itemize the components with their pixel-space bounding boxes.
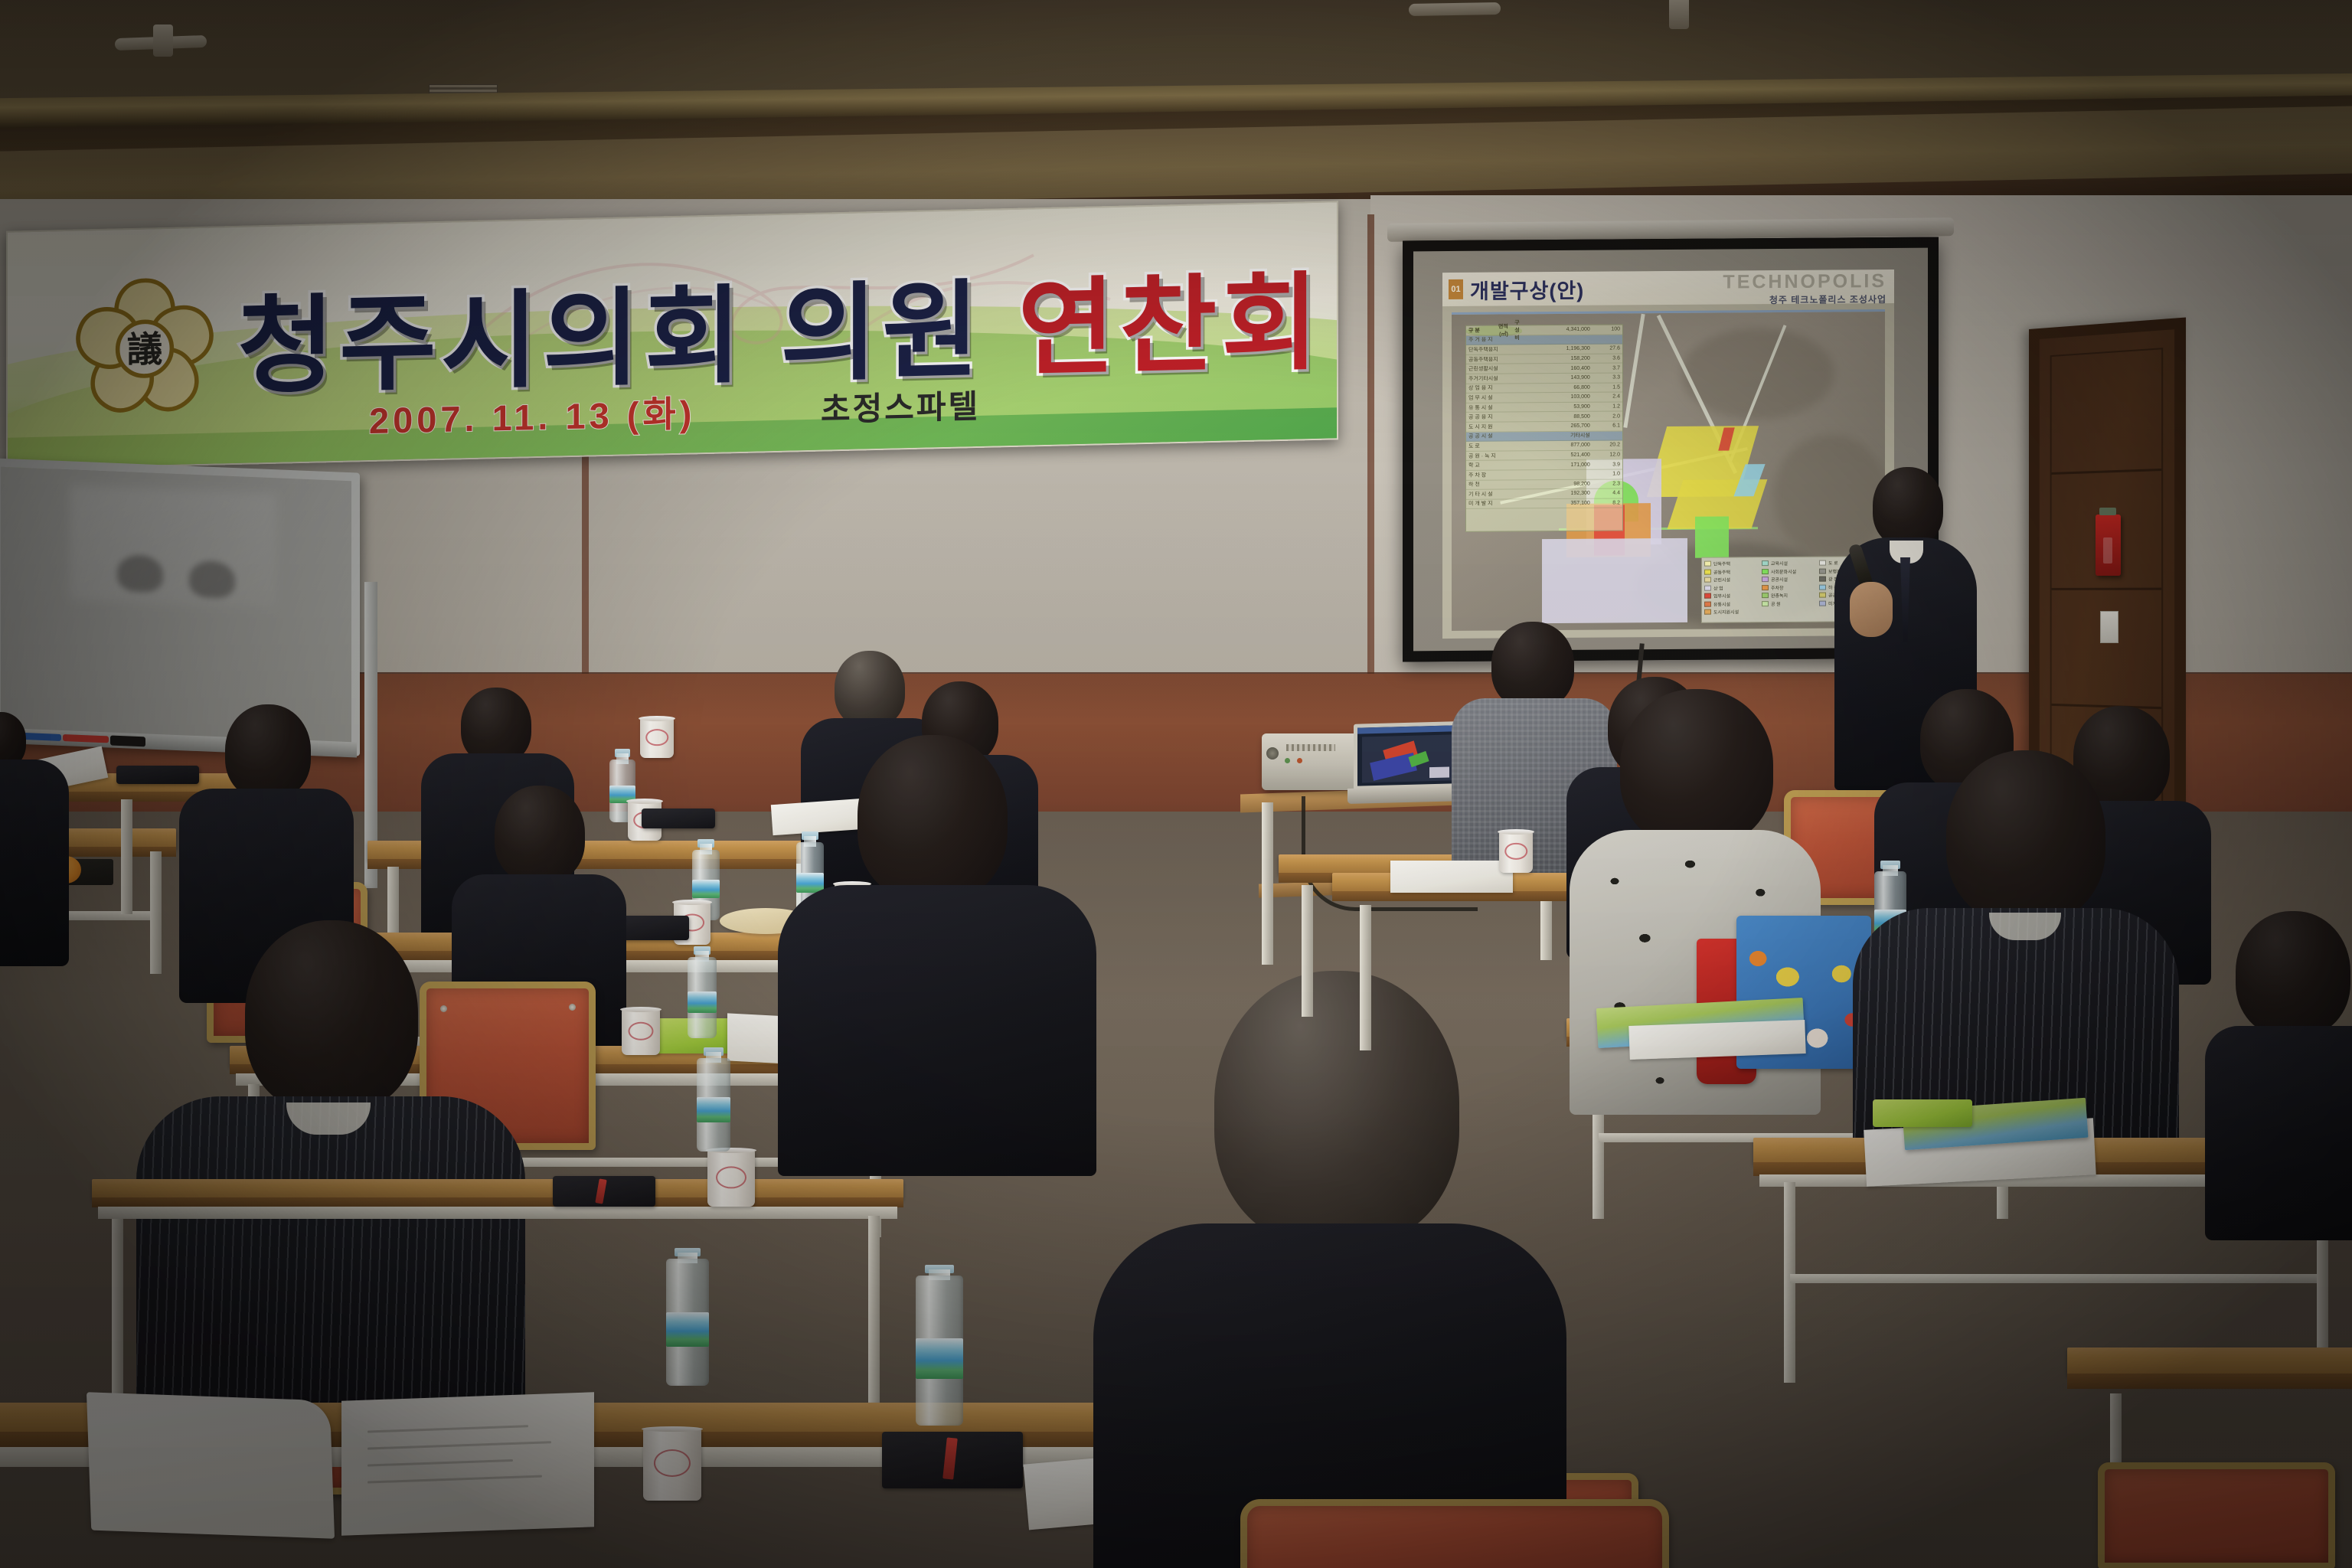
legend-item: 업무시설 [1704,592,1759,599]
table-header-label: 구 분 [1468,326,1490,334]
cheongju-council-emblem: 議 [73,273,216,426]
legend-column-1: 단독주택 공동주택 근린시설 상 업 업무시설 유통시설 도시지원시설 [1704,560,1759,620]
chair-back [2098,1462,2335,1568]
cup-rim [1498,829,1534,835]
sprinkler-body-left [153,24,173,57]
water-bottle[interactable] [666,1248,709,1386]
bottle-label [666,1312,709,1347]
table-header-pct: 구성비 [1511,318,1520,341]
legend-item: 교육시설 [1762,560,1817,567]
presentation-laptop-screen[interactable] [1354,721,1457,790]
light-switch-plate[interactable] [2100,611,2118,643]
legend-item: 상 업 [1704,584,1759,592]
legend-swatch [1704,585,1711,590]
laptop-titlebar [1357,725,1453,733]
attendee-head [1620,689,1773,847]
legend-item: 단독주택 [1704,560,1759,567]
green-snack-pack[interactable] [1873,1099,1972,1127]
chair-foreground[interactable] [1240,1499,1669,1568]
legend-swatch [1819,568,1826,573]
chair-corner-right[interactable] [2098,1462,2335,1568]
banner-title: 청주시의회 의원 연찬회 [237,237,1323,414]
legend-swatch [1704,601,1711,606]
cup-rim [626,799,663,804]
presentation-slide: 01 개발구상(안) TECHNOPOLIS 청주 테크노폴리스 조성사업 [1442,269,1894,639]
data-projector[interactable] [1262,733,1360,790]
legend-swatch [1704,593,1711,599]
attendee-torso [2205,1026,2352,1240]
desk-top [92,1179,903,1199]
legend-item: 공공시설 [1762,576,1817,583]
bottle-label [692,880,720,899]
paper-cup[interactable] [707,1150,755,1207]
black-eyeglass-case[interactable] [882,1432,1023,1488]
booklet-text-line [367,1441,551,1449]
wall-seam-left [582,453,589,683]
legend-swatch [1762,569,1769,574]
chair-back [1240,1499,1669,1568]
attendee-1 [0,712,84,965]
wall-seam-center [1367,214,1374,689]
sprinkler-head-right [1409,2,1501,16]
loose-papers [1628,1020,1805,1060]
laptop-zone-gray [1429,766,1449,778]
open-booklet [89,1396,594,1534]
banner-title-accent: 연찬회 [1018,264,1323,389]
water-bottle[interactable] [697,1047,730,1151]
slide-data-table: 구 분 면적(㎡) 구성비 합 계4,341,000100 주 거 용 지 단독… [1465,324,1623,531]
attendee-head [461,688,531,764]
legend-swatch [1819,560,1826,566]
presenter-hand [1850,582,1893,637]
projector-lamp-led [1297,758,1302,763]
map-zone-green-2 [1695,516,1729,557]
cup-rim [642,1426,703,1432]
cup-rim [620,1007,661,1012]
attendee-head [857,735,1008,902]
legend-swatch [1704,561,1711,567]
legend-swatch [1819,577,1826,582]
table-header-row: 구 분 면적(㎡) 구성비 [1466,325,1522,335]
attendee-7 [778,735,1099,1164]
sprinkler-body-right [1669,0,1689,29]
legend-swatch [1762,585,1769,590]
booklet-left-page [87,1392,335,1538]
water-bottle[interactable] [688,946,717,1038]
attendee-head [2236,911,2350,1037]
legend-swatch [1819,593,1826,598]
slide-brand-ko: 청주 테크노폴리스 조성사업 [1723,292,1886,306]
whiteboard-eraser[interactable] [110,736,145,747]
booklet-text-line [367,1425,528,1432]
desk-leg [112,1219,123,1410]
table-header-area: 면적(㎡) [1493,322,1508,338]
slide-brand: TECHNOPOLIS 청주 테크노폴리스 조성사업 [1723,270,1886,306]
cup-rim [672,900,712,905]
event-banner: 議 청주시의회 의원 연찬회 2007. 11. 13 (화) 초정스파텔 [6,201,1338,469]
fire-alarm-box[interactable] [2096,514,2121,576]
attendee-head [495,786,585,884]
legend-swatch [1704,577,1711,583]
projector-lens [1266,747,1279,759]
legend-item: 공동주택 [1704,568,1759,576]
legend-item: 유통시설 [1704,600,1759,608]
paper-cup[interactable] [643,1429,701,1501]
water-bottle[interactable] [916,1265,963,1426]
legend-item: 근린시설 [1704,576,1759,583]
bottle-label [916,1338,963,1379]
bottle-body [916,1276,963,1426]
legend-swatch [1704,569,1711,574]
legend-column-2: 교육시설 사회문화시설 공공시설 주차장 완충녹지 공 원 [1762,560,1817,620]
bottle-label [697,1097,730,1122]
bottle-body [688,957,717,1038]
desk-edge [2067,1374,2352,1389]
bottle-body [666,1259,709,1386]
desk-leg [1360,905,1371,1050]
door-rail-mid [2052,588,2161,590]
bottle-body [697,1058,730,1151]
table-row: 미 개 발 지357,1008.2 [1466,498,1622,509]
legend-swatch [1819,584,1826,590]
whiteboard-reflection [70,485,276,608]
door-rail-top [2052,469,2161,475]
legend-swatch [1704,609,1711,615]
laptop-slide-map [1362,734,1454,782]
attendee-16 [2205,911,2352,1233]
presenter-head [1873,467,1943,547]
banner-date: 2007. 11. 13 (화) [369,384,695,444]
legend-swatch [1762,560,1769,566]
legend-swatch [1762,593,1769,598]
equipment-table-leg-left [1262,802,1273,965]
paper-cup[interactable] [640,718,674,758]
attendee-torso [778,885,1096,1176]
slide-map-area: 구 분 면적(㎡) 구성비 합 계4,341,000100 주 거 용 지 단독… [1452,309,1885,631]
red-pen[interactable] [595,1178,606,1204]
attendee-9 [1093,971,1568,1568]
legend-swatch [1819,600,1826,606]
legend-swatch [1762,577,1769,582]
attendee-torso [0,759,69,966]
booklet-right-page [341,1392,594,1536]
slide-brand-en: TECHNOPOLIS [1723,270,1886,293]
desk-apron [98,1207,897,1219]
projector-power-led [1285,758,1290,763]
projector-vent [1286,744,1335,751]
legend-item: 사회문화시설 [1762,567,1817,575]
attendee-head [225,704,311,799]
emblem-character: 議 [127,330,162,371]
legend-item: 완충녹지 [1762,592,1817,599]
booklet-text-line [367,1475,542,1484]
cup-rim [639,716,675,721]
red-pen[interactable] [942,1437,958,1479]
black-eyeglass-case[interactable] [553,1176,655,1207]
conference-room-photo: 議 청주시의회 의원 연찬회 2007. 11. 13 (화) 초정스파텔 01… [0,0,2352,1568]
attendee-head [245,920,418,1113]
map-zone-lilac-2 [1542,538,1687,623]
desk-top [2067,1347,2352,1375]
attendee-head [1946,750,2105,923]
legend-swatch [1762,601,1769,606]
slide-bullet-marker: 01 [1449,279,1463,299]
black-eyeglass-case[interactable] [642,808,715,828]
desk-leg [1302,885,1313,1017]
paper-cup[interactable] [1499,831,1533,873]
paper-cup[interactable] [622,1009,660,1055]
attendee-head [1491,622,1574,709]
slide-title: 개발구상(안) [1470,273,1584,304]
chair-stud [569,1004,576,1011]
banner-venue: 초정스파텔 [821,381,980,431]
legend-item: 주차장 [1762,583,1817,591]
booklet-text-line [367,1459,513,1467]
desk-leg [121,799,132,914]
bottle-label [688,991,717,1014]
loose-papers [1390,861,1513,893]
legend-item: 도시지원시설 [1704,608,1759,616]
desk-front-left [92,1179,903,1409]
desk-brace [1790,1274,2317,1283]
map-road-1 [1623,314,1645,428]
slide-header: 01 개발구상(안) TECHNOPOLIS 청주 테크노폴리스 조성사업 [1442,269,1894,306]
desk-leg [868,1216,880,1410]
legend-item: 공 원 [1762,599,1817,607]
